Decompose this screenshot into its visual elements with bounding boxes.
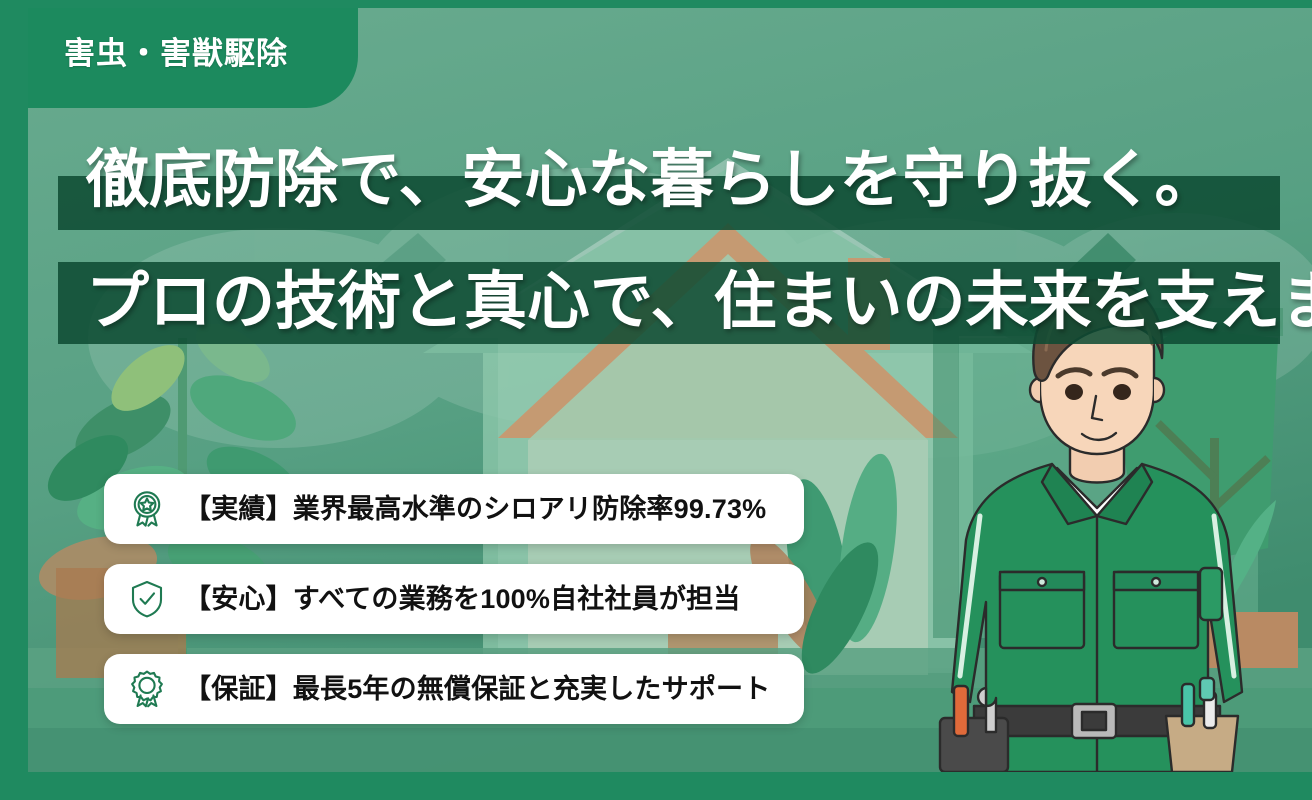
headline-row-2: プロの技術と真心で、住まいの未来を支えます。 bbox=[58, 244, 1312, 328]
headline: 徹底防除で、安心な暮らしを守り抜く。 プロの技術と真心で、住まいの未来を支えます… bbox=[58, 136, 1312, 328]
headline-row-1: 徹底防除で、安心な暮らしを守り抜く。 bbox=[58, 136, 1312, 220]
category-tab[interactable]: 害虫・害獣駆除 bbox=[28, 8, 358, 108]
feature-pill-warranty[interactable]: 【保証】最長5年の無償保証と充実したサポート bbox=[104, 654, 804, 724]
award-medal-star-icon bbox=[126, 488, 168, 530]
promo-banner: 害虫・害獣駆除 徹底防除で、安心な暮らしを守り抜く。 プロの技術と真心で、住まい… bbox=[0, 0, 1312, 800]
feature-list: 【実績】業界最高水準のシロアリ防除率99.73% 【安心】すべての業務を100%… bbox=[104, 474, 804, 744]
feature-pill-achievement[interactable]: 【実績】業界最高水準のシロアリ防除率99.73% bbox=[104, 474, 804, 544]
category-tab-label: 害虫・害獣駆除 bbox=[64, 34, 288, 74]
headline-line-2: プロの技術と真心で、住まいの未来を支えます。 bbox=[58, 266, 1312, 338]
shield-check-icon bbox=[126, 578, 168, 620]
technician-illustration bbox=[882, 272, 1312, 772]
feature-pill-achievement-label: 【実績】業界最高水準のシロアリ防除率99.73% bbox=[184, 492, 766, 526]
rosette-ribbon-icon bbox=[126, 668, 168, 710]
feature-pill-assurance-label: 【安心】すべての業務を100%自社社員が担当 bbox=[184, 582, 741, 616]
feature-pill-warranty-label: 【保証】最長5年の無償保証と充実したサポート bbox=[184, 672, 770, 706]
banner-panel: 害虫・害獣駆除 徹底防除で、安心な暮らしを守り抜く。 プロの技術と真心で、住まい… bbox=[28, 8, 1312, 772]
headline-line-1: 徹底防除で、安心な暮らしを守り抜く。 bbox=[58, 144, 1312, 216]
feature-pill-assurance[interactable]: 【安心】すべての業務を100%自社社員が担当 bbox=[104, 564, 804, 634]
